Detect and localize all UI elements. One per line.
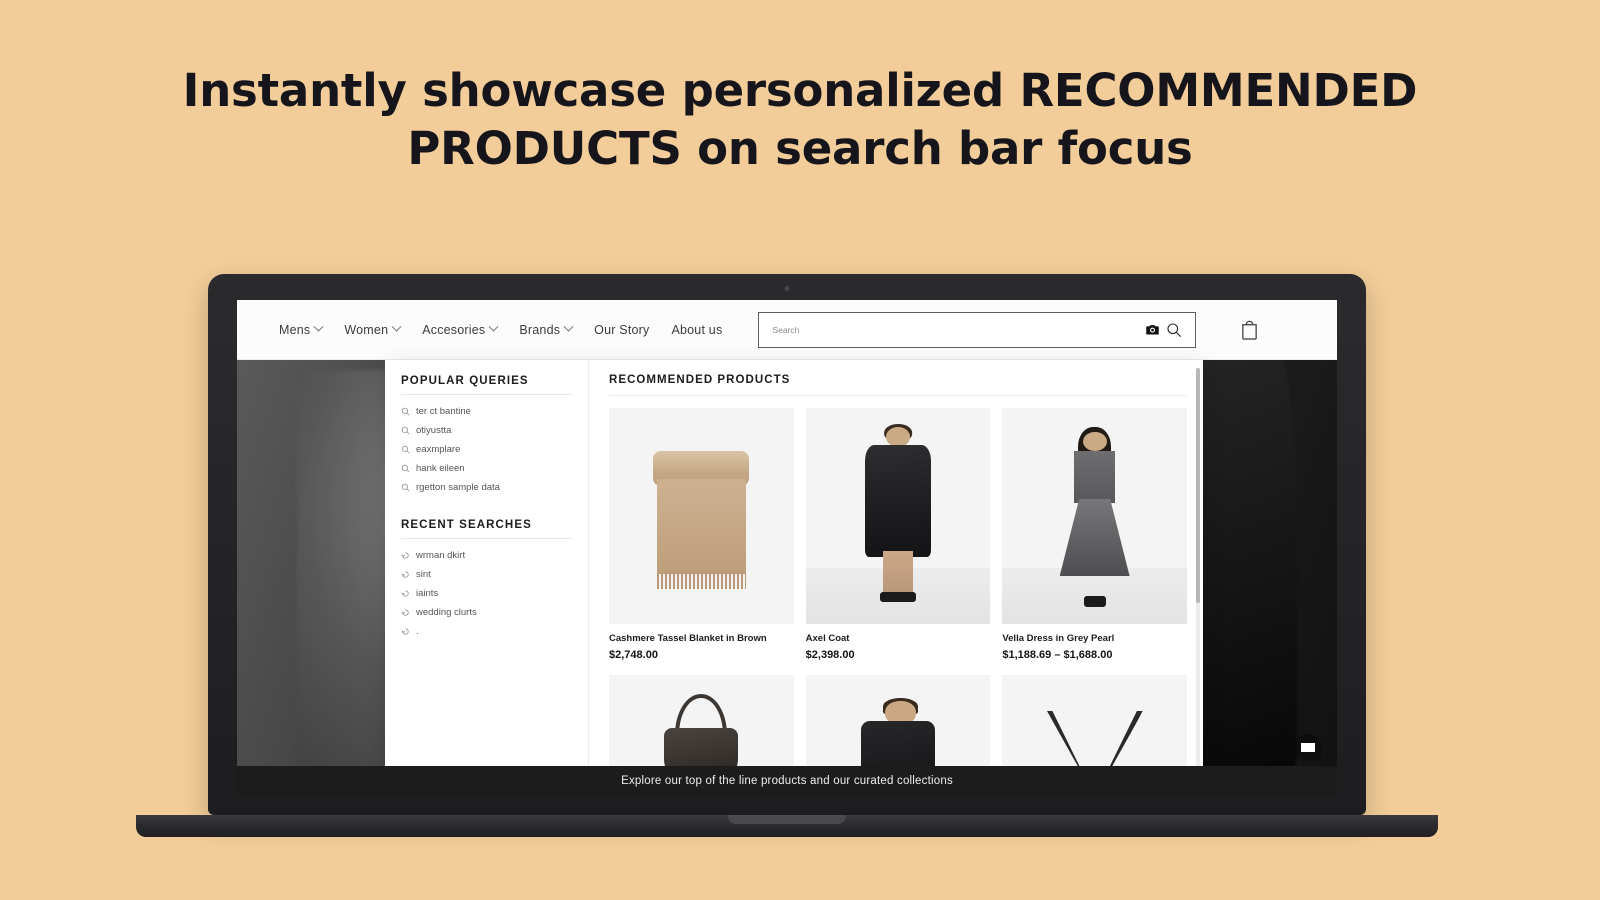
laptop-lid: Mens Women Accesories Brands xyxy=(208,274,1366,815)
product-image-blanket xyxy=(609,408,794,624)
product-title: Axel Coat xyxy=(806,633,991,644)
popular-query-item[interactable]: ter ct bantine xyxy=(401,402,572,421)
search-icon xyxy=(401,445,410,454)
nav-label: Brands xyxy=(519,323,560,337)
query-label: otiyustta xyxy=(416,425,451,436)
promo-bar: Explore our top of the line products and… xyxy=(237,766,1337,796)
popular-query-item[interactable]: hank eileen xyxy=(401,459,572,478)
popular-query-item[interactable]: eaxmplare xyxy=(401,440,572,459)
search-icon xyxy=(401,407,410,416)
popular-query-item[interactable]: otiyustta xyxy=(401,421,572,440)
scrollbar-thumb[interactable] xyxy=(1196,368,1200,603)
recent-search-item[interactable]: . xyxy=(401,622,572,641)
suggestions-panel: POPULAR QUERIES ter ct bantine otiyustta… xyxy=(385,360,589,796)
recent-search-item[interactable]: iaints xyxy=(401,584,572,603)
product-card[interactable]: Axel Coat $2,398.00 xyxy=(806,408,991,661)
search-icon xyxy=(401,464,410,473)
headline-line-2: PRODUCTS on search bar focus xyxy=(0,120,1600,178)
laptop-notch xyxy=(728,815,846,824)
search-input[interactable] xyxy=(772,325,1141,335)
shopping-bag-icon[interactable] xyxy=(1234,315,1264,345)
query-label: eaxmplare xyxy=(416,444,460,455)
query-label: hank eileen xyxy=(416,463,465,474)
recent-search-item[interactable]: sint xyxy=(401,565,572,584)
nav-label: Our Story xyxy=(594,323,649,337)
product-grid: Cashmere Tassel Blanket in Brown $2,748.… xyxy=(609,408,1187,795)
query-label: rgetton sample data xyxy=(416,482,500,493)
page-headline: Instantly showcase personalized RECOMMEN… xyxy=(0,62,1600,177)
search-area xyxy=(758,312,1315,348)
chevron-down-icon xyxy=(489,322,499,332)
product-title: Vella Dress in Grey Pearl xyxy=(1002,633,1187,644)
search-icon xyxy=(401,483,410,492)
chevron-down-icon xyxy=(392,322,402,332)
product-price: $1,188.69 – $1,688.00 xyxy=(1002,649,1187,661)
nav-item-our-story[interactable]: Our Story xyxy=(594,323,649,337)
recent-search-item[interactable]: wrman dkirt xyxy=(401,546,572,565)
product-image-dress xyxy=(1002,408,1187,624)
product-image-coat xyxy=(806,408,991,624)
laptop-base xyxy=(136,815,1438,837)
promo-text: Explore our top of the line products and… xyxy=(621,775,953,787)
product-title: Cashmere Tassel Blanket in Brown xyxy=(609,633,794,644)
history-icon xyxy=(401,589,410,598)
nav-label: Women xyxy=(344,323,388,337)
query-label: ter ct bantine xyxy=(416,406,471,417)
popular-queries-title: POPULAR QUERIES xyxy=(401,375,572,395)
search-box[interactable] xyxy=(758,312,1196,348)
history-icon xyxy=(401,627,410,636)
site-header: Mens Women Accesories Brands xyxy=(237,300,1337,360)
recent-label: wrman dkirt xyxy=(416,550,465,561)
history-icon xyxy=(401,570,410,579)
recent-label: wedding clurts xyxy=(416,607,477,618)
history-icon xyxy=(401,608,410,617)
overlay-scrollbar[interactable] xyxy=(1196,368,1200,788)
nav-item-accesories[interactable]: Accesories xyxy=(422,323,497,337)
product-price: $2,748.00 xyxy=(609,649,794,661)
main-navigation: Mens Women Accesories Brands xyxy=(279,323,722,337)
nav-label: Accesories xyxy=(422,323,485,337)
headline-line-1: Instantly showcase personalized RECOMMEN… xyxy=(183,64,1418,117)
nav-item-about-us[interactable]: About us xyxy=(671,323,722,337)
search-icon xyxy=(401,426,410,435)
product-price: $2,398.00 xyxy=(806,649,991,661)
recent-label: iaints xyxy=(416,588,438,599)
search-suggestions-overlay: POPULAR QUERIES ter ct bantine otiyustta… xyxy=(385,360,1203,796)
recommended-products-panel: RECOMMENDED PRODUCTS Cashmere Tassel Bl xyxy=(589,360,1203,796)
search-icon[interactable] xyxy=(1163,319,1185,341)
nav-label: About us xyxy=(671,323,722,337)
nav-item-women[interactable]: Women xyxy=(344,323,400,337)
recent-searches-title: RECENT SEARCHES xyxy=(401,519,572,539)
popular-query-item[interactable]: rgetton sample data xyxy=(401,478,572,497)
camera-search-icon[interactable] xyxy=(1141,319,1163,341)
nav-item-brands[interactable]: Brands xyxy=(519,323,572,337)
laptop-mockup: Mens Women Accesories Brands xyxy=(208,274,1366,830)
recent-label: sint xyxy=(416,569,431,580)
recent-search-item[interactable]: wedding clurts xyxy=(401,603,572,622)
nav-label: Mens xyxy=(279,323,310,337)
nav-item-mens[interactable]: Mens xyxy=(279,323,322,337)
product-card[interactable]: Vella Dress in Grey Pearl $1,188.69 – $1… xyxy=(1002,408,1187,661)
chat-widget-icon[interactable] xyxy=(1295,734,1321,760)
recommended-products-title: RECOMMENDED PRODUCTS xyxy=(609,374,1187,396)
recent-label: . xyxy=(416,626,419,637)
product-card[interactable]: Cashmere Tassel Blanket in Brown $2,748.… xyxy=(609,408,794,661)
chevron-down-icon xyxy=(314,322,324,332)
webcam-icon xyxy=(784,285,791,292)
chevron-down-icon xyxy=(564,322,574,332)
laptop-screen: Mens Women Accesories Brands xyxy=(237,300,1337,796)
history-icon xyxy=(401,551,410,560)
